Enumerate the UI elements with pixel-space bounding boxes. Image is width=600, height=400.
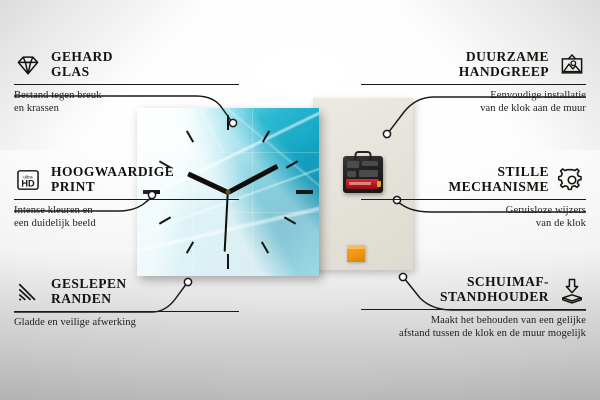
callout-title: GEHARD GLAS — [51, 50, 113, 79]
ultra-hd-icon: ultra HD — [14, 166, 42, 194]
callout-description-line2: afstand tussen de klok en de muur mogeli… — [361, 328, 586, 341]
callout-stille-mechanisme[interactable]: STILLE MECHANISME Geruisloze wijzers van… — [361, 165, 586, 230]
callout-header: DUURZAME HANDGREEP — [361, 50, 586, 79]
infographic-canvas: GEHARD GLAS Bestand tegen breuk en krass… — [0, 0, 600, 400]
mechanism-hanger — [355, 151, 372, 160]
callout-description-line1: Geruisloze wijzers — [361, 205, 586, 218]
callout-description-line2: en krassen — [14, 103, 239, 116]
callout-divider — [361, 199, 586, 200]
callout-divider — [14, 311, 239, 312]
foam-spacer-highlight — [347, 245, 365, 249]
callout-title: STILLE MECHANISME — [448, 165, 549, 194]
callout-description-line1: Bestand tegen breuk — [14, 90, 239, 103]
mechanism-slot — [347, 171, 356, 177]
callout-title: DUURZAME HANDGREEP — [459, 50, 549, 79]
callout-title: GESLEPEN RANDEN — [51, 277, 127, 306]
callout-header: GEHARD GLAS — [14, 50, 239, 79]
callout-title: HOOGWAARDIGE PRINT — [51, 165, 174, 194]
callout-description-line2: een duidelijk beeld — [14, 218, 239, 231]
callout-description-line2: van de klok — [361, 218, 586, 231]
callout-header: GESLEPEN RANDEN — [14, 277, 239, 306]
callout-gehard-glas[interactable]: GEHARD GLAS Bestand tegen breuk en krass… — [14, 50, 239, 115]
callout-header: ultra HD HOOGWAARDIGE PRINT — [14, 165, 239, 194]
callout-description-line1: Gladde en veilige afwerking — [14, 317, 239, 330]
callout-schuimaf-standhouder[interactable]: SCHUIMAF- STANDHOUDER Maakt het behouden… — [361, 275, 586, 340]
diamond-icon — [14, 51, 42, 79]
callout-divider — [14, 84, 239, 85]
callout-description-line1: Intense kleuren en — [14, 205, 239, 218]
diagonal-lines-icon — [14, 278, 42, 306]
callout-hoogwaardige-print[interactable]: ultra HD HOOGWAARDIGE PRINT Intense kleu… — [14, 165, 239, 230]
callout-divider — [14, 199, 239, 200]
callout-divider — [361, 309, 586, 310]
picture-frame-icon — [558, 51, 586, 79]
foam-spacer — [347, 245, 365, 262]
svg-text:HD: HD — [21, 178, 35, 188]
press-down-icon — [558, 276, 586, 304]
clock-center-hub — [226, 190, 231, 195]
callout-header: STILLE MECHANISME — [361, 165, 586, 194]
callout-header: SCHUIMAF- STANDHOUDER — [361, 275, 586, 304]
gear-icon — [558, 166, 586, 194]
mechanism-slot — [347, 161, 359, 168]
callout-duurzame-handgreep[interactable]: DUURZAME HANDGREEP Eenvoudige installati… — [361, 50, 586, 115]
callout-divider — [361, 84, 586, 85]
callout-description-line1: Eenvoudige installatie — [361, 90, 586, 103]
callout-description-line1: Maakt het behouden van een gelijke — [361, 315, 586, 328]
callout-geslepen-randen[interactable]: GESLEPEN RANDEN Gladde en veilige afwerk… — [14, 277, 239, 330]
callout-description-line2: van de klok aan de muur — [361, 103, 586, 116]
callout-title: SCHUIMAF- STANDHOUDER — [440, 275, 549, 304]
